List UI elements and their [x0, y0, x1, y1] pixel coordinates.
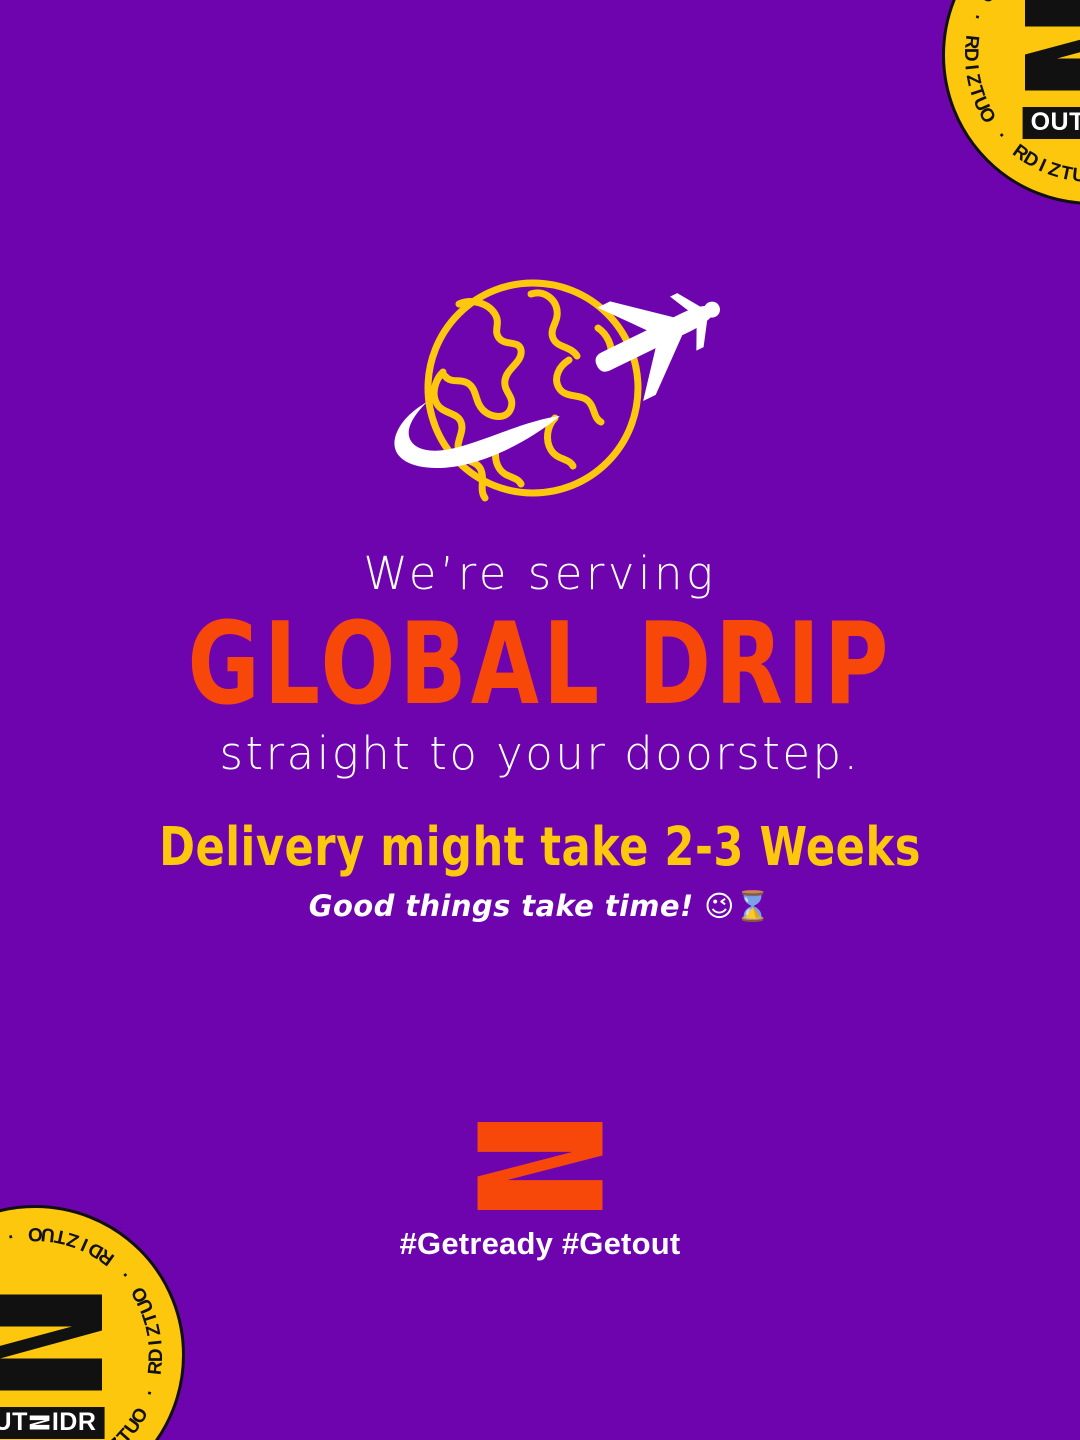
- main-copy-block: We’re serving GLOBAL DRIP straight to yo…: [0, 548, 1080, 780]
- page-title: GLOBAL DRIP: [0, 612, 1080, 716]
- badge-ring-char: ·: [964, 11, 987, 24]
- badge-wordmark-post: IDR: [52, 1408, 97, 1436]
- badge-ring-char: I: [959, 64, 981, 72]
- badge-ring-char: ·: [991, 127, 1012, 147]
- outzidr-seal-top-right: OUTZIDR·OUTZIDR·OUTZIDR·OUTZIDR·OUTZIDR·…: [942, 0, 1080, 205]
- reassurance-text: Good things take time!: [309, 889, 694, 923]
- subline-text: straight to your doorstep.: [0, 728, 1080, 780]
- badge-ring-char: R: [145, 1359, 168, 1376]
- eyebrow-text: We’re serving: [0, 548, 1080, 600]
- badge-ring-char: O: [973, 0, 1000, 6]
- badge-wordmark-top-right: OUTIDR: [1023, 107, 1080, 139]
- badge-ring-char: R: [959, 34, 982, 51]
- badge-wordmark-pre: OUT: [0, 1408, 28, 1436]
- wink-hourglass-emoji: 😉⌛: [704, 889, 771, 923]
- delivery-notice-text: Delivery might take 2-3 Weeks: [0, 818, 1080, 877]
- poster-canvas: OUTZIDR·OUTZIDR·OUTZIDR·OUTZIDR·OUTZIDR·…: [0, 0, 1080, 1440]
- z-logo-icon: [0, 1291, 110, 1395]
- z-logo-icon: [29, 1413, 51, 1432]
- globe-airplane-svg: [355, 268, 725, 518]
- badge-ring-char: ·: [139, 1386, 162, 1399]
- badge-ring-char: ·: [115, 1263, 136, 1283]
- badge-ring-char: ·: [4, 1224, 15, 1247]
- delivery-notice-block: Delivery might take 2-3 Weeks Good thing…: [0, 818, 1080, 924]
- reassurance-line: Good things take time! 😉⌛: [0, 889, 1080, 924]
- z-logo-icon: [474, 1120, 606, 1212]
- globe-with-airplane-icon: [355, 268, 725, 518]
- badge-wordmark-bottom-left: OUTIDR: [0, 1407, 104, 1439]
- z-logo-icon: [1017, 0, 1080, 95]
- badge-wordmark-pre: OUT: [1031, 108, 1080, 136]
- badge-ring-char: I: [145, 1338, 167, 1346]
- outzidr-seal-bottom-left: OUTZIDR·OUTZIDR·OUTZIDR·OUTZIDR·OUTZIDR·…: [0, 1205, 185, 1440]
